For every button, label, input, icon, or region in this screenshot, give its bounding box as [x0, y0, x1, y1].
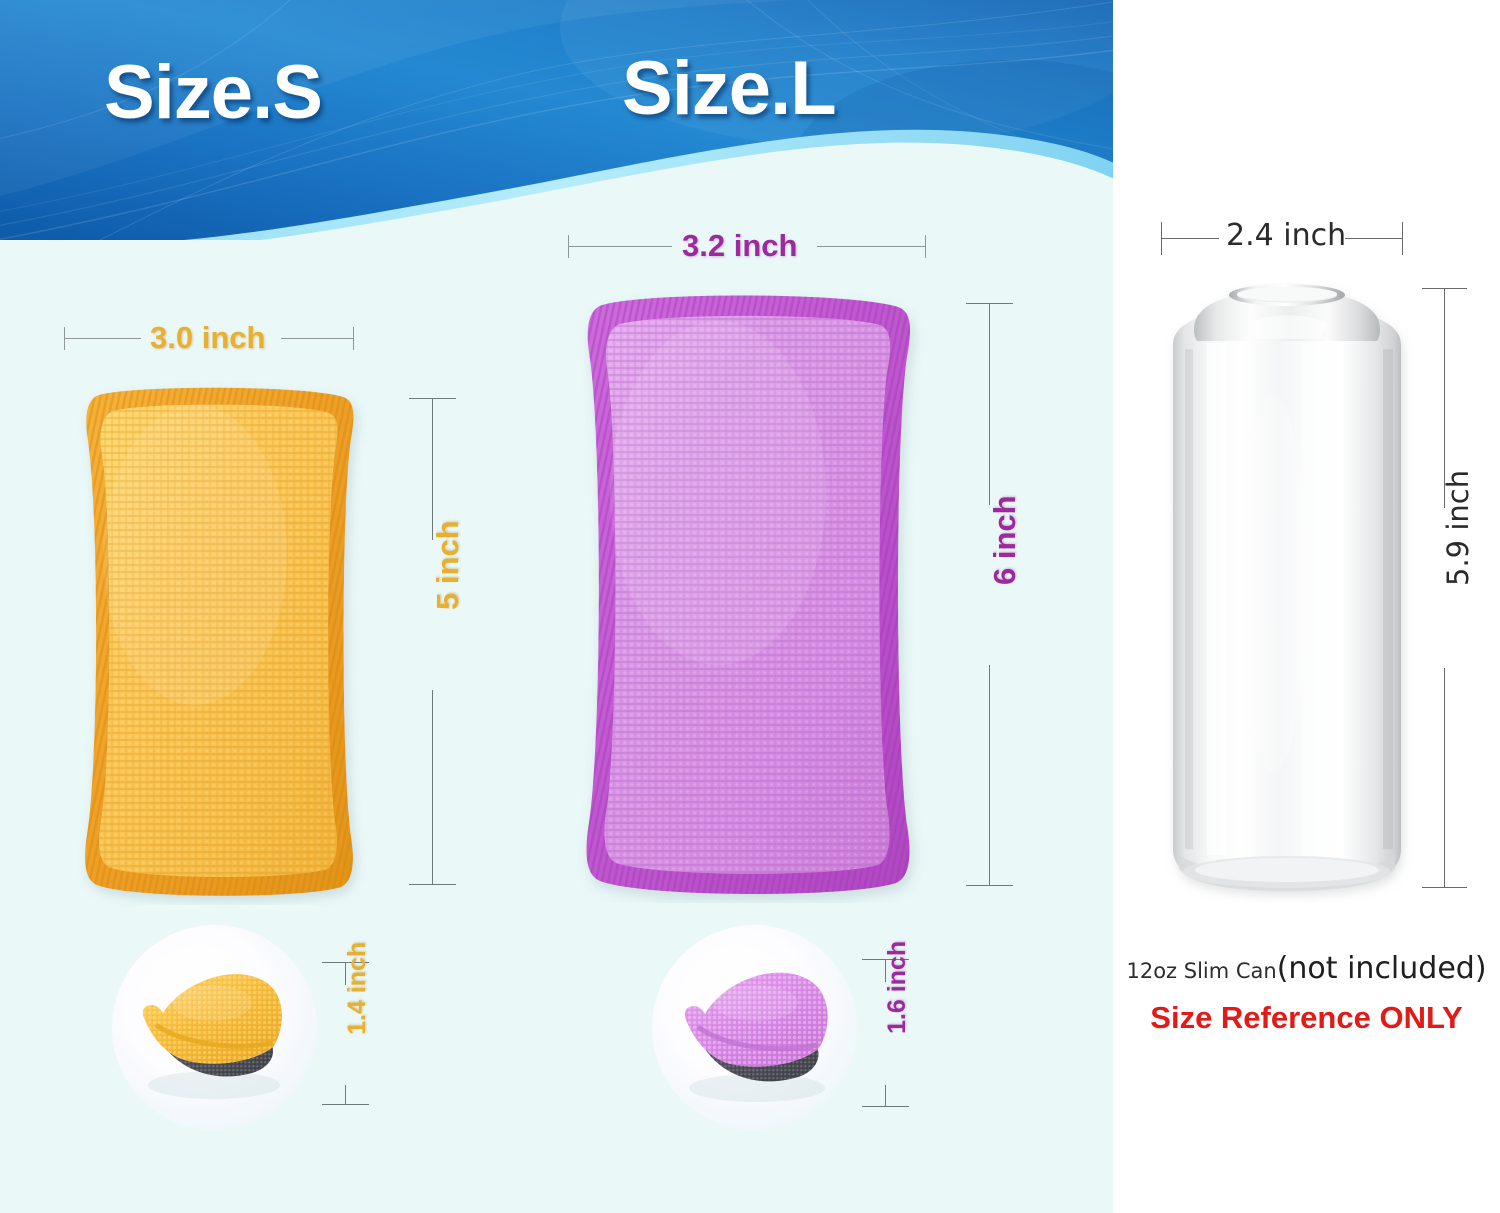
large-sponge-image [550, 283, 950, 903]
small-sponge-svg [55, 375, 385, 905]
size-s-title: Size.S [104, 49, 322, 136]
can-width-label: 2.4 inch [1226, 221, 1346, 251]
small-sponge-thickness-thumbnail [112, 925, 317, 1130]
aluminum-can-svg [1155, 283, 1420, 903]
can-reference-panel: 2.4 inch [1113, 0, 1500, 1213]
size-comparison-infographic: Size.S Size.L [0, 0, 1500, 1213]
large-sponge-svg [550, 283, 950, 903]
can-caption-big: (not included) [1277, 951, 1487, 986]
sponge-comparison-panel: Size.S Size.L [0, 0, 1113, 1213]
large-sponge-section-svg [652, 925, 857, 1130]
small-sponge-section-svg [112, 925, 317, 1130]
small-sponge-image [55, 375, 385, 905]
can-caption-small: 12oz Slim Can [1126, 959, 1276, 983]
size-l-title: Size.L [622, 45, 836, 132]
small-sponge-width-label: 3.0 inch [150, 322, 265, 353]
large-sponge-thickness-thumbnail [652, 925, 857, 1130]
can-caption: 12oz Slim Can(not included) [1113, 951, 1500, 986]
size-reference-disclaimer: Size Reference ONLY [1113, 1000, 1500, 1036]
aluminum-can-image [1155, 283, 1420, 903]
large-sponge-width-label: 3.2 inch [682, 230, 797, 261]
